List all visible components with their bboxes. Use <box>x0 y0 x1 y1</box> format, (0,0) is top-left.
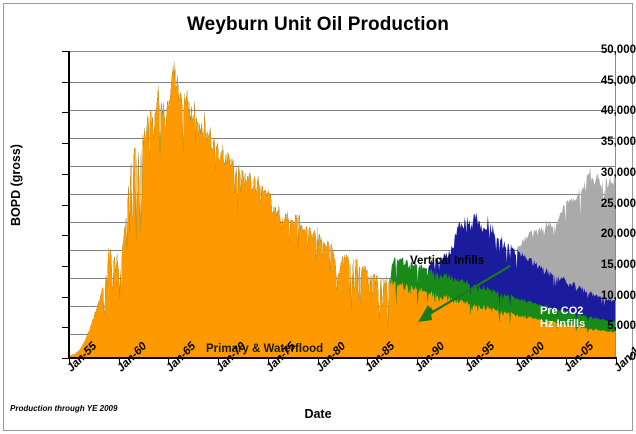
y-axis-tick-label: 50,000 <box>578 45 636 56</box>
y-axis-tick-mark <box>62 235 69 236</box>
y-axis-tick-mark <box>62 266 69 267</box>
y-axis-tick-label: 25,000 <box>578 199 636 210</box>
annotation-vertical-infills: Vertical Infills <box>410 255 484 267</box>
series-label-primary: Primary & Waterflood <box>206 343 323 356</box>
footnote: Production through YE 2009 <box>10 404 117 413</box>
y-axis-tick-mark <box>62 327 69 328</box>
y-axis-tick-label: 5,000 <box>578 321 636 332</box>
y-axis-tick-mark <box>62 82 69 83</box>
y-axis-tick-mark <box>62 174 69 175</box>
y-axis-tick-label: 20,000 <box>578 229 636 240</box>
y-axis-tick-mark <box>62 143 69 144</box>
series-layers <box>70 61 615 357</box>
y-axis-tick-label: 35,000 <box>578 137 636 148</box>
y-axis-tick-mark <box>62 112 69 113</box>
y-axis-tick-label: 10,000 <box>578 291 636 302</box>
y-axis-tick-mark <box>62 51 69 52</box>
plot-area: Primary & Waterflood Pre CO2 Hz Infills … <box>69 51 616 358</box>
y-axis-tick-label: 30,000 <box>578 168 636 179</box>
chart-figure: Weyburn Unit Oil Production Primary & Wa… <box>0 0 636 434</box>
stacked-area-plot <box>70 52 615 357</box>
y-axis-tick-mark <box>62 205 69 206</box>
y-axis-tick-mark <box>62 358 69 359</box>
y-axis-tick-label: 45,000 <box>578 76 636 87</box>
y-axis-title: BOPD (gross) <box>9 125 23 245</box>
y-axis-tick-label: 40,000 <box>578 106 636 117</box>
y-axis-tick-label: 15,000 <box>578 260 636 271</box>
y-axis-tick-mark <box>62 297 69 298</box>
chart-title: Weyburn Unit Oil Production <box>0 14 636 36</box>
